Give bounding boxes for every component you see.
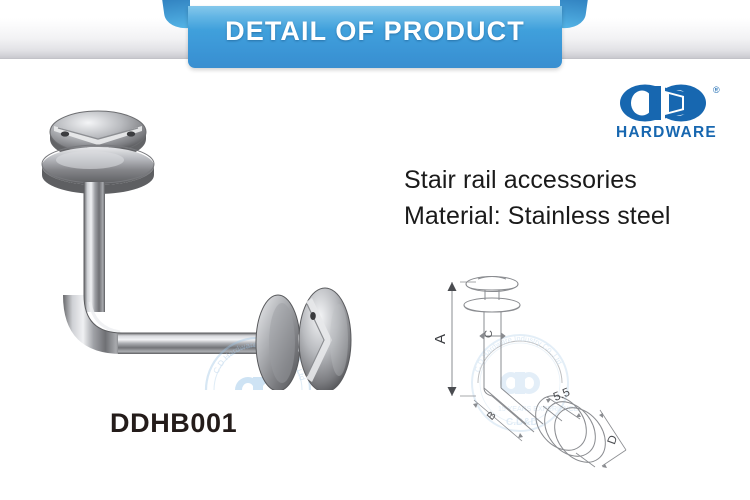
product-description: Stair rail accessories Material: Stainle… xyxy=(404,162,734,234)
logo-wordmark: HARDWARE xyxy=(616,124,726,142)
page-title: DETAIL OF PRODUCT xyxy=(0,0,750,62)
dimension-label-b: B xyxy=(485,409,499,422)
product-description-line-1: Stair rail accessories xyxy=(404,162,734,198)
product-code: DDHB001 xyxy=(110,408,237,439)
brand-logo: ® HARDWARE xyxy=(614,84,734,146)
technical-drawing: C.D Hardware Industry Co.,Ltd 15 YEARS E… xyxy=(430,238,660,478)
product-description-line-2: Material: Stainless steel xyxy=(404,198,734,234)
svg-text:C.D&D: C.D&D xyxy=(506,417,538,428)
product-photo: C.D Hardware Industry Co.,Ltd Stainless … xyxy=(10,90,360,390)
svg-text:C.D Hardware Industry Co.,Ltd: C.D Hardware Industry Co.,Ltd xyxy=(473,334,565,373)
page-header: DETAIL OF PRODUCT xyxy=(0,0,750,78)
dimension-label-a: A xyxy=(432,334,449,344)
bracket-arm-tube xyxy=(63,182,278,354)
dimension-label-c: C xyxy=(483,330,495,338)
cd-monogram-icon xyxy=(618,84,710,122)
bracket-wall-plate xyxy=(299,288,351,390)
registered-trademark-icon: ® xyxy=(713,85,720,95)
dimension-label-d: D xyxy=(604,433,620,446)
